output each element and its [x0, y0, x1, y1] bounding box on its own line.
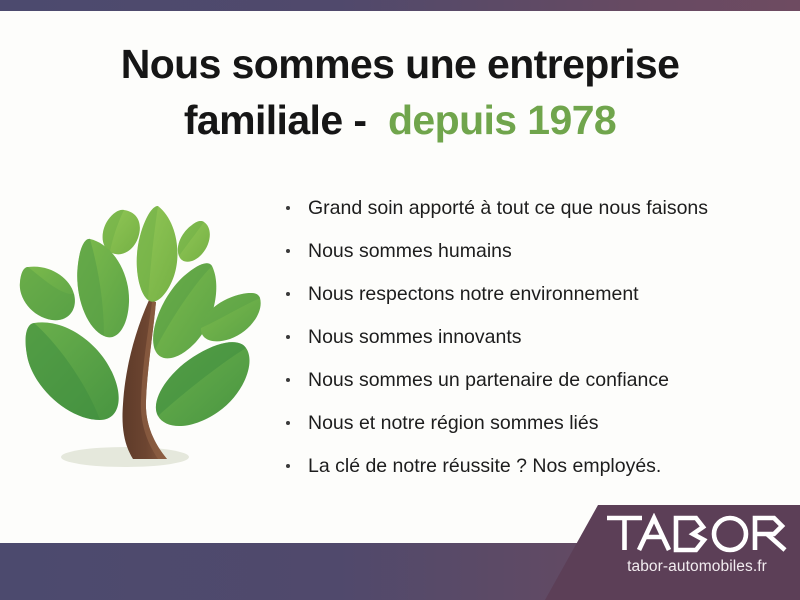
brand-logo-inner: tabor-automobiles.fr: [536, 503, 800, 600]
bullet-dot-icon: [286, 421, 290, 425]
list-item-label: La clé de notre réussite ? Nos employés.: [308, 455, 661, 477]
bullet-dot-icon: [286, 206, 290, 210]
list-item: Nous respectons notre environnement: [282, 279, 782, 322]
tree-shadow: [61, 447, 189, 467]
list-item: Nous et notre région sommes liés: [282, 408, 782, 451]
bullet-dot-icon: [286, 249, 290, 253]
list-item: Nous sommes innovants: [282, 322, 782, 365]
brand-tagline: tabor-automobiles.fr: [604, 558, 790, 576]
list-item: Nous sommes un partenaire de confiance: [282, 365, 782, 408]
leaf-upper-right-small: [178, 221, 210, 262]
headline-accent: depuis 1978: [388, 97, 616, 143]
bullet-dot-icon: [286, 292, 290, 296]
benefits-list: Grand soin apporté à tout ce que nous fa…: [282, 193, 782, 494]
bullet-dot-icon: [286, 335, 290, 339]
leaf-lower-left: [26, 322, 119, 420]
bullet-dot-icon: [286, 464, 290, 468]
leaf-center-top: [137, 206, 178, 302]
page-title: Nous sommes une entreprise familiale - d…: [60, 36, 740, 148]
list-item-label: Grand soin apporté à tout ce que nous fa…: [308, 197, 708, 219]
slide-canvas: Nous sommes une entreprise familiale - d…: [0, 0, 800, 600]
tree-illustration: [12, 182, 270, 490]
headline-plain: familiale: [184, 97, 343, 143]
list-item: La clé de notre réussite ? Nos employés.: [282, 451, 782, 494]
list-item-label: Nous sommes un partenaire de confiance: [308, 369, 669, 391]
headline-line-1: Nous sommes une entreprise: [60, 36, 740, 92]
leaf-upper-left-small: [103, 210, 140, 254]
list-item: Grand soin apporté à tout ce que nous fa…: [282, 193, 782, 236]
tabor-wordmark-logo: [604, 513, 790, 553]
brand-logo-panel[interactable]: tabor-automobiles.fr: [536, 503, 800, 600]
headline-dash: -: [343, 97, 388, 143]
headline-line-2: familiale - depuis 1978: [60, 92, 740, 148]
list-item: Nous sommes humains: [282, 236, 782, 279]
leaf-far-left: [20, 267, 75, 321]
list-item-label: Nous sommes innovants: [308, 326, 522, 348]
list-item-label: Nous sommes humains: [308, 240, 512, 262]
list-item-label: Nous et notre région sommes liés: [308, 412, 598, 434]
top-accent-bar: [0, 0, 800, 11]
list-item-label: Nous respectons notre environnement: [308, 283, 639, 305]
bullet-dot-icon: [286, 378, 290, 382]
